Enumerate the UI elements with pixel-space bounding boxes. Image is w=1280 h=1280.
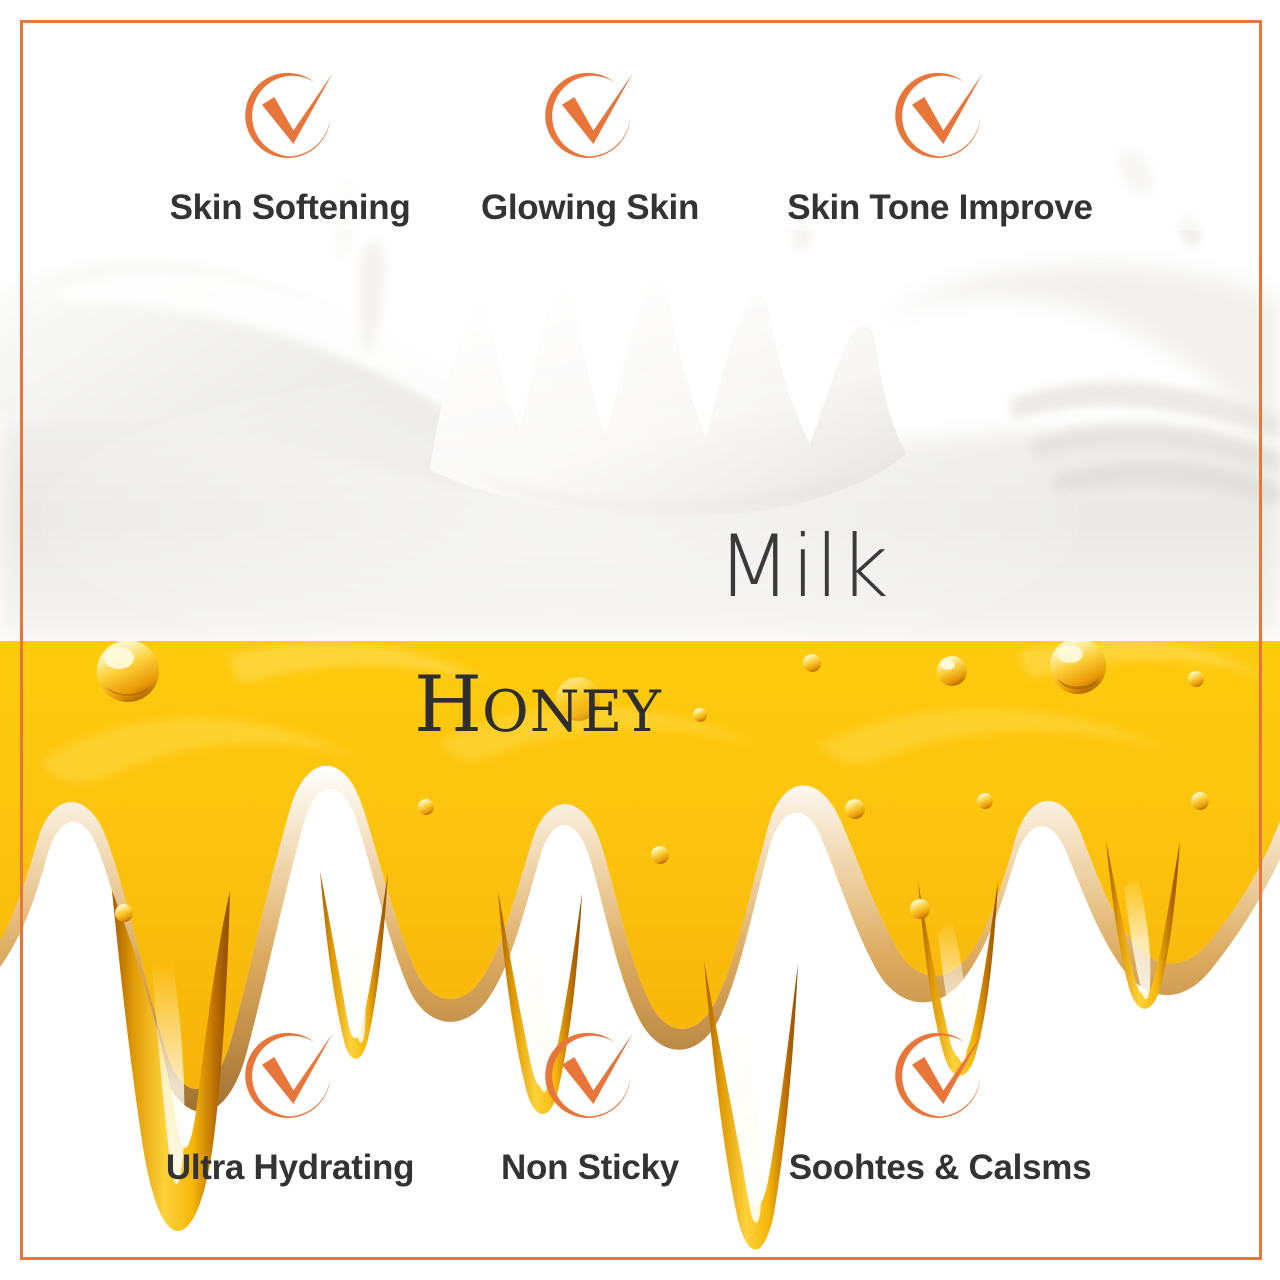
feature-label: Skin Tone Improve [787, 190, 1092, 225]
honey-bubble-sm-2 [1188, 671, 1204, 687]
honey-wordmark-rest: ONEY [482, 679, 662, 745]
honey-bubble-sm-9 [115, 904, 133, 922]
honey-bubble-sm-1 [803, 654, 821, 672]
features-bottom-row: Ultra Hydrating Non Sticky Soohtes & Cal… [0, 1020, 1280, 1185]
honey-bubble-med-1 [937, 656, 967, 686]
honey-bubble-sm-4 [1191, 792, 1209, 810]
honey-wordmark-cap: H [414, 660, 482, 750]
product-benefits-poster: Milk HONEY Skin Softening Glowing Skin S [0, 0, 1280, 1280]
honey-bubble-hl-1 [104, 647, 134, 669]
features-top-row: Skin Softening Glowing Skin Skin Tone Im… [0, 60, 1280, 225]
check-circle-icon [234, 1020, 346, 1132]
honey-bubble-sm-3 [845, 799, 865, 819]
feature-non-sticky[interactable]: Non Sticky [440, 1020, 740, 1185]
check-circle-icon [884, 60, 996, 172]
honey-bubble-sm-7 [418, 799, 434, 815]
feature-label: Ultra Hydrating [166, 1150, 414, 1185]
honey-bubble-sm-6 [651, 846, 669, 864]
feature-skin-tone-improve[interactable]: Skin Tone Improve [740, 60, 1140, 225]
feature-label: Non Sticky [501, 1150, 679, 1185]
honey-bubble-sm-10 [693, 708, 707, 722]
honey-bubble-hl-2 [1057, 645, 1083, 663]
honey-bubble-hl-3 [941, 660, 955, 670]
check-circle-icon [534, 1020, 646, 1132]
feature-label: Soohtes & Calsms [789, 1150, 1092, 1185]
honey-wordmark: HONEY [414, 666, 662, 744]
check-circle-icon [884, 1020, 996, 1132]
feature-label: Skin Softening [170, 190, 411, 225]
check-circle-icon [534, 60, 646, 172]
feature-glowing-skin[interactable]: Glowing Skin [440, 60, 740, 225]
honey-bubble-sm-8 [910, 899, 930, 919]
feature-label: Glowing Skin [481, 190, 699, 225]
milk-wordmark: Milk [717, 524, 889, 610]
feature-ultra-hydrating[interactable]: Ultra Hydrating [140, 1020, 440, 1185]
check-circle-icon [234, 60, 346, 172]
honey-bubble-sm-5 [977, 793, 993, 809]
feature-soothes-calms[interactable]: Soohtes & Calsms [740, 1020, 1140, 1185]
feature-skin-softening[interactable]: Skin Softening [140, 60, 440, 225]
